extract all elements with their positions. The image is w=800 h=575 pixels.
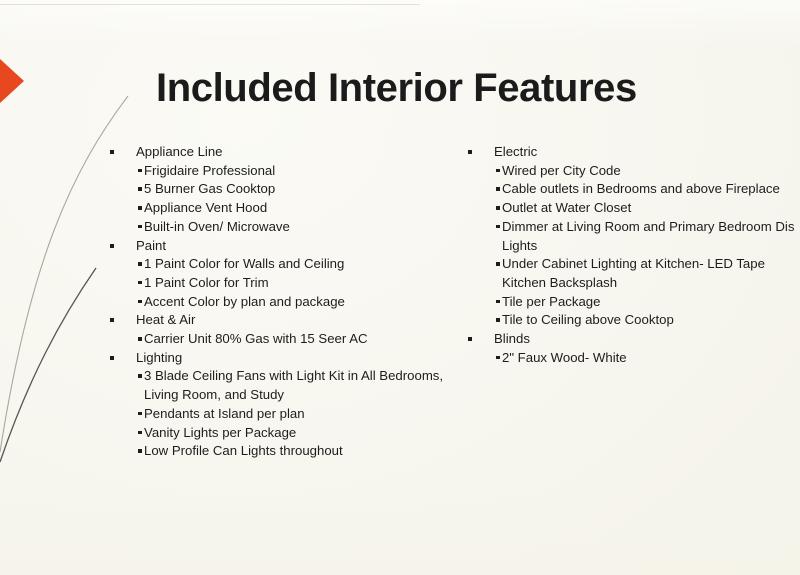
bullet-square-icon: [138, 169, 142, 173]
bullet-square-icon: [110, 356, 114, 360]
bullet-square-icon: [138, 187, 142, 191]
list-item: Built-in Oven/ Microwave: [108, 218, 460, 237]
bullet-square-icon: [496, 300, 500, 304]
list-item: Wired per City Code: [466, 162, 800, 181]
group-heading-blinds: Blinds: [466, 330, 800, 349]
list-item: Under Cabinet Lighting at Kitchen- LED T…: [466, 255, 800, 292]
bullet-square-icon: [110, 244, 114, 248]
group-heading-appliance-line: Appliance Line: [108, 143, 460, 162]
list-item: Vanity Lights per Package: [108, 424, 460, 443]
bullet-square-icon: [496, 225, 500, 229]
features-column-left: Appliance Line Frigidaire Professional 5…: [108, 143, 460, 461]
list-item: Low Profile Can Lights throughout: [108, 442, 460, 461]
group-heading-lighting: Lighting: [108, 349, 460, 368]
group-heading-paint: Paint: [108, 237, 460, 256]
list-item: 1 Paint Color for Trim: [108, 274, 460, 293]
group-heading-heat-and-air: Heat & Air: [108, 311, 460, 330]
bullet-square-icon: [496, 187, 500, 191]
bullet-square-icon: [496, 169, 500, 173]
list-item: Tile per Package: [466, 293, 800, 312]
bullet-square-icon: [496, 206, 500, 210]
list-item: Appliance Vent Hood: [108, 199, 460, 218]
bullet-square-icon: [138, 412, 142, 416]
list-item: Pendants at Island per plan: [108, 405, 460, 424]
list-item: 1 Paint Color for Walls and Ceiling: [108, 255, 460, 274]
bullet-square-icon: [110, 150, 114, 154]
list-item: Frigidaire Professional: [108, 162, 460, 181]
bullet-square-icon: [138, 281, 142, 285]
orange-triangle-icon: [0, 59, 24, 103]
top-hairline-divider: [0, 4, 420, 5]
list-item: Tile to Ceiling above Cooktop: [466, 311, 800, 330]
list-item: Cable outlets in Bedrooms and above Fire…: [466, 180, 800, 199]
list-item: Accent Color by plan and package: [108, 293, 460, 312]
slide-canvas: Included Interior Features Appliance Lin…: [0, 0, 800, 575]
bullet-square-icon: [468, 337, 472, 341]
bullet-square-icon: [138, 262, 142, 266]
group-heading-electric: Electric: [466, 143, 800, 162]
bullet-square-icon: [138, 206, 142, 210]
list-item: Dimmer at Living Room and Primary Bedroo…: [466, 218, 800, 255]
page-title: Included Interior Features: [156, 66, 637, 111]
bullet-square-icon: [496, 318, 500, 322]
bullet-square-icon: [138, 449, 142, 453]
list-item: Carrier Unit 80% Gas with 15 Seer AC: [108, 330, 460, 349]
bullet-square-icon: [468, 150, 472, 154]
features-column-right: Electric Wired per City Code Cable outle…: [466, 143, 800, 367]
list-item: 5 Burner Gas Cooktop: [108, 180, 460, 199]
bullet-square-icon: [138, 431, 142, 435]
bullet-square-icon: [496, 262, 500, 266]
bullet-square-icon: [138, 374, 142, 378]
bullet-square-icon: [138, 225, 142, 229]
list-item: 3 Blade Ceiling Fans with Light Kit in A…: [108, 367, 460, 404]
bullet-square-icon: [496, 356, 500, 360]
list-item: Outlet at Water Closet: [466, 199, 800, 218]
bullet-square-icon: [110, 318, 114, 322]
list-item: 2" Faux Wood- White: [466, 349, 800, 368]
bullet-square-icon: [138, 337, 142, 341]
bullet-square-icon: [138, 300, 142, 304]
